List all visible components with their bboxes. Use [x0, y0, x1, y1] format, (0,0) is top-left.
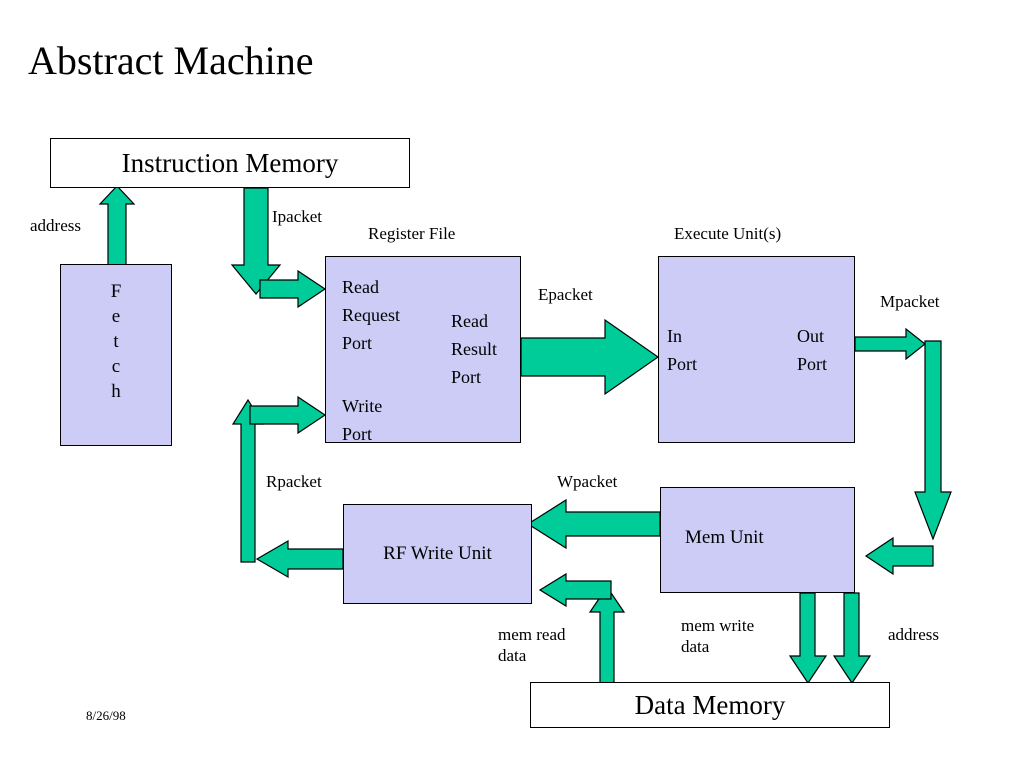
box-mem-unit[interactable]: Mem Unit — [660, 487, 855, 593]
box-data-memory[interactable]: Data Memory — [530, 682, 890, 728]
arrow-mpacket-down — [915, 341, 951, 539]
edge-label-wpacket: Wpacket — [557, 471, 617, 492]
register-file-write-port-label: Write Port — [342, 392, 382, 448]
box-register-file[interactable]: Read Request Port Read Result Port Write… — [325, 256, 521, 443]
edge-label-address-bottom: address — [888, 624, 939, 645]
arrow-mpacket-into-mem-unit — [866, 538, 933, 574]
arrow-address-mem-unit-to-data-memory — [834, 593, 870, 683]
box-register-file-title: Register File — [368, 223, 455, 244]
box-mem-unit-label: Mem Unit — [685, 524, 764, 552]
edge-label-address-top: address — [30, 215, 81, 236]
arrow-address-fetch-to-imem — [100, 186, 134, 266]
register-file-read-request-port-label: Read Request Port — [342, 273, 400, 357]
date-stamp: 8/26/98 — [86, 708, 126, 724]
page-title: Abstract Machine — [28, 38, 313, 84]
arrow-rpacket-left — [257, 541, 343, 577]
edge-label-epacket: Epacket — [538, 284, 593, 305]
box-instruction-memory[interactable]: Instruction Memory — [50, 138, 410, 188]
box-fetch-label: F e t c h — [61, 279, 171, 404]
arrow-rpacket-up — [233, 400, 263, 562]
arrow-epacket — [521, 320, 658, 394]
arrow-mem-write-data-down — [790, 593, 826, 683]
box-execute-unit-title: Execute Unit(s) — [674, 223, 781, 244]
arrow-wpacket — [528, 500, 660, 548]
box-data-memory-label: Data Memory — [531, 683, 889, 727]
arrow-rpacket-into-write-port — [250, 397, 325, 433]
arrow-mpacket-right — [855, 329, 925, 359]
slide-canvas: Abstract Machine — [0, 0, 1024, 768]
arrow-ipacket-into-read-request-port — [260, 271, 325, 307]
box-fetch[interactable]: F e t c h — [60, 264, 172, 446]
arrow-ipacket-down — [232, 188, 280, 294]
edge-label-mem-write-data: mem write data — [681, 615, 754, 657]
edge-label-mem-read-data: mem read data — [498, 624, 566, 666]
box-execute-unit[interactable]: In Port Out Port — [658, 256, 855, 443]
register-file-read-result-port-label: Read Result Port — [451, 307, 497, 391]
box-rf-write-unit[interactable]: RF Write Unit — [343, 504, 532, 604]
edge-label-rpacket: Rpacket — [266, 471, 322, 492]
execute-unit-out-port-label: Out Port — [797, 322, 827, 378]
execute-unit-in-port-label: In Port — [667, 322, 697, 378]
arrow-mem-read-data-into-rfwu — [540, 574, 611, 606]
edge-label-ipacket: Ipacket — [272, 206, 322, 227]
box-rf-write-unit-label: RF Write Unit — [344, 505, 531, 603]
edge-label-mpacket: Mpacket — [880, 291, 939, 312]
box-instruction-memory-label: Instruction Memory — [51, 139, 409, 187]
arrow-mem-read-data-up — [590, 587, 624, 683]
